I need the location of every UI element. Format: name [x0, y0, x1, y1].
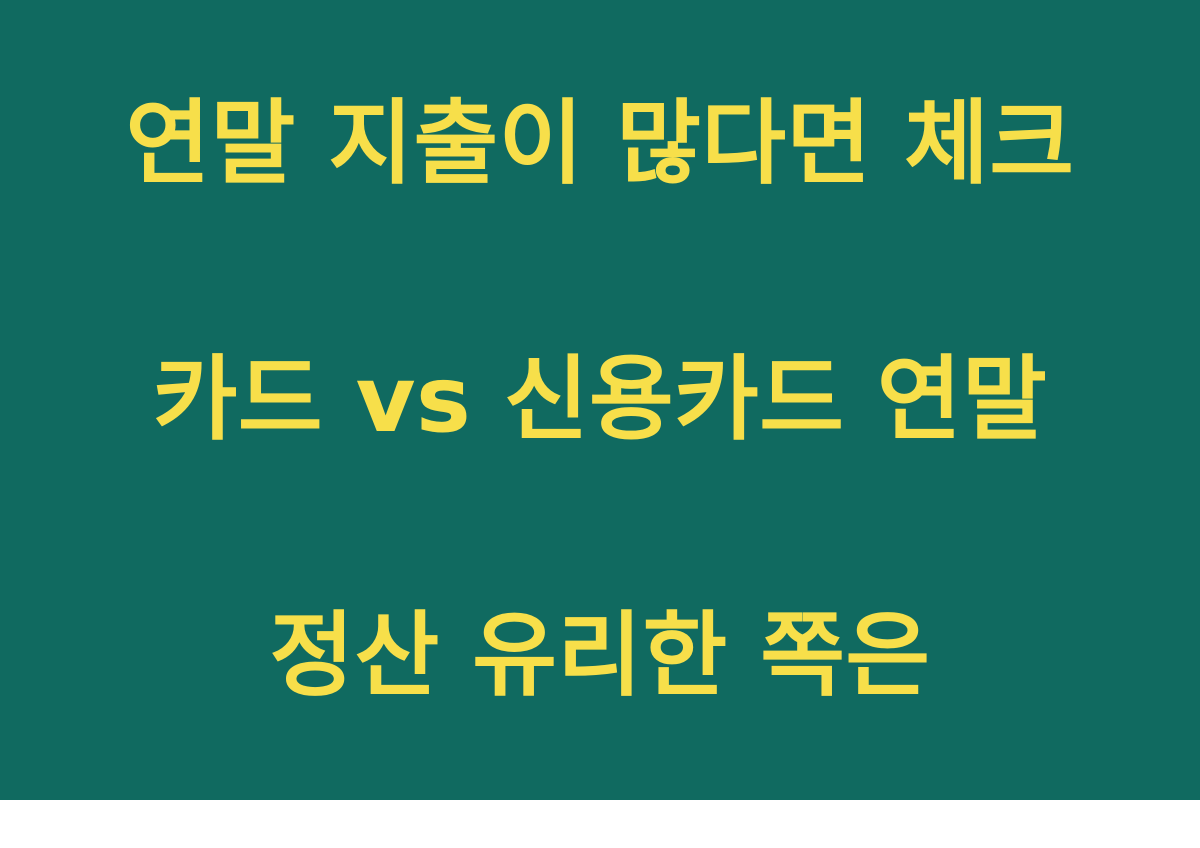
headline-line-2: 카드 vs 신용카드 연말	[65, 336, 1135, 464]
page-title: 연말 지출이 많다면 체크 카드 vs 신용카드 연말 정산 유리한 쪽은	[65, 0, 1135, 848]
thumbnail-card: 연말 지출이 많다면 체크 카드 vs 신용카드 연말 정산 유리한 쪽은	[0, 0, 1200, 800]
headline-line-3: 정산 유리한 쪽은	[65, 592, 1135, 720]
headline-line-1: 연말 지출이 많다면 체크	[65, 80, 1135, 208]
